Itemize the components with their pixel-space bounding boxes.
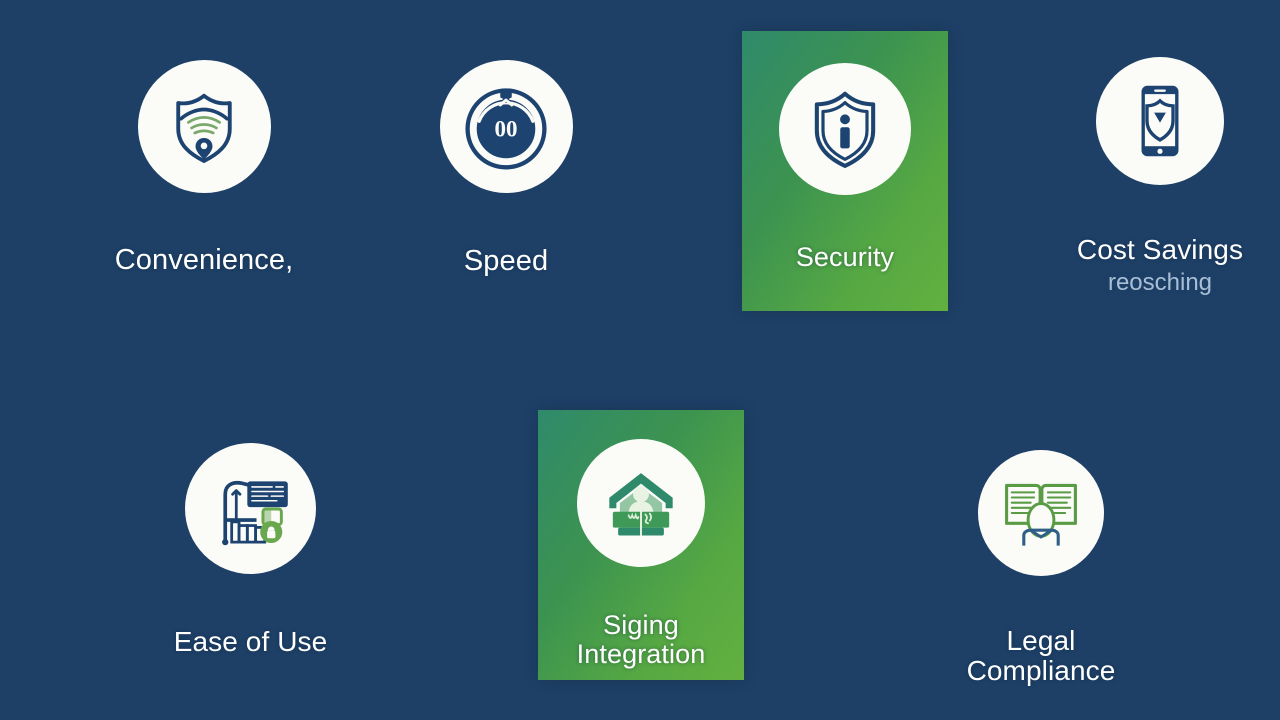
tile-label: Legal Compliance: [967, 626, 1116, 686]
tile-sublabel: reosching: [1108, 269, 1212, 297]
tile-label: Convenience,: [115, 245, 294, 276]
tile-label: Speed: [464, 246, 548, 277]
feature-tile-security[interactable]: Security: [742, 31, 948, 311]
feature-tile-ease-of-use[interactable]: Ease of Use: [135, 443, 366, 657]
feature-tile-legal-compliance[interactable]: Legal Compliance: [930, 450, 1152, 686]
stopwatch-icon: 00: [440, 60, 573, 193]
feature-tile-cost-savings[interactable]: Cost Savings reosching: [1060, 57, 1260, 297]
tile-label: Siging Integration: [577, 611, 706, 669]
feature-tile-signing-integration[interactable]: Siging Integration: [538, 410, 744, 680]
stopwatch-digits: 00: [494, 115, 517, 141]
feature-tile-speed[interactable]: 00 Speed: [398, 60, 614, 277]
feature-tile-convenience[interactable]: Convenience,: [88, 60, 320, 276]
workstation-document-icon: [185, 443, 316, 574]
shield-signal-pin-icon: [138, 60, 271, 193]
shield-info-icon: [779, 63, 911, 195]
signing-desk-icon: [577, 439, 705, 567]
open-book-person-icon: [978, 450, 1104, 576]
tile-label: Ease of Use: [174, 627, 328, 657]
phone-shield-icon: [1096, 57, 1224, 185]
tile-label: Cost Savings: [1077, 235, 1243, 265]
tile-label: Security: [796, 243, 894, 272]
slide-canvas: Convenience, 00 Speed: [0, 0, 1280, 720]
